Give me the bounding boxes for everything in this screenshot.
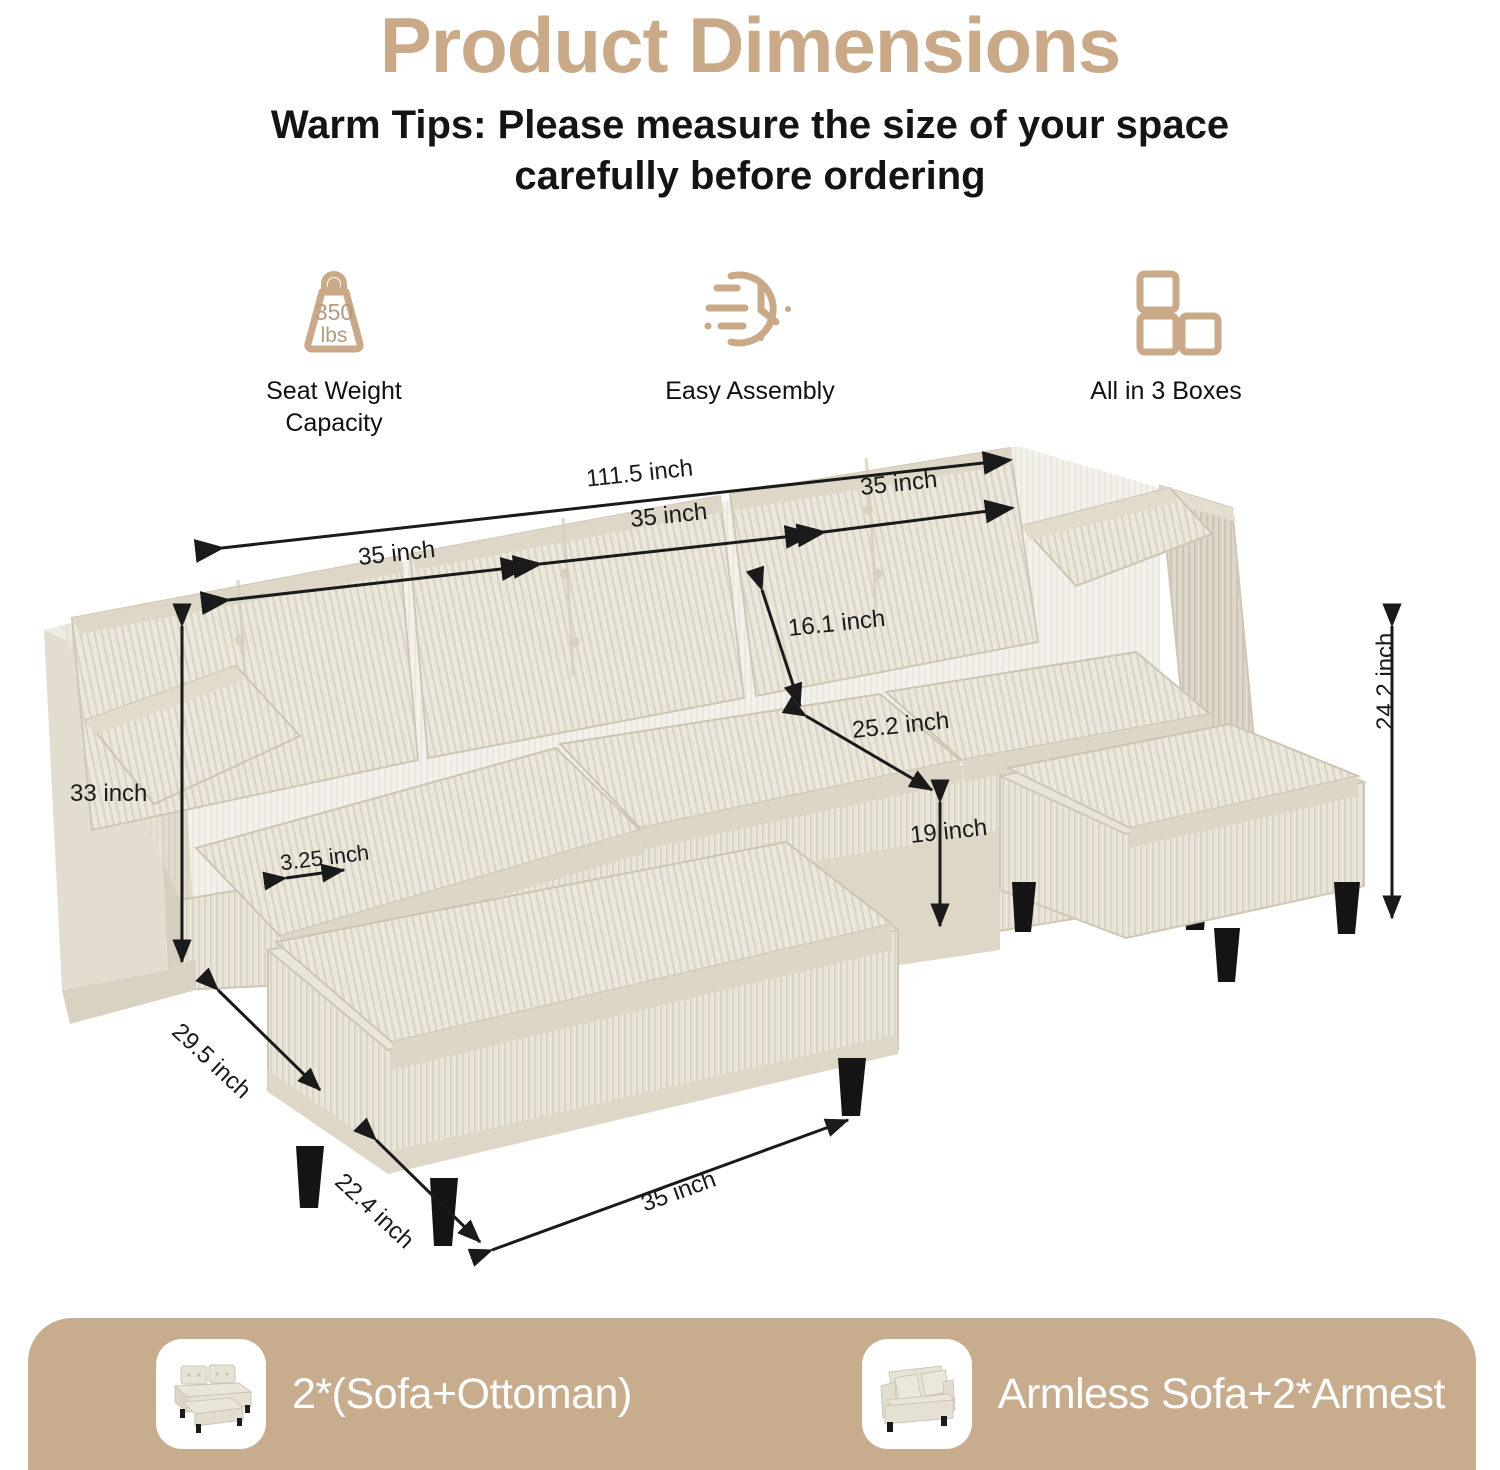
feature-label: All in 3 Boxes bbox=[1090, 376, 1241, 408]
sofa-illustration bbox=[44, 446, 1364, 1246]
feature-all-in-3-boxes: All in 3 Boxes bbox=[1051, 252, 1281, 439]
configuration-bar: 2*(Sofa+Ottoman) bbox=[28, 1318, 1476, 1470]
feature-badges: 350 lbs Seat Weight Capacity Easy Assemb… bbox=[0, 252, 1500, 439]
weight-icon: 350 lbs bbox=[278, 252, 390, 364]
config-label: Armless Sofa+2*Armest bbox=[998, 1370, 1445, 1419]
dim-total-height: 33 inch bbox=[70, 780, 147, 808]
weight-value: 350 bbox=[315, 299, 353, 325]
sofa-dimension-diagram: 111.5 inch 35 inch 35 inch 35 inch 16.1 … bbox=[0, 430, 1500, 1290]
feature-seat-weight-capacity: 350 lbs Seat Weight Capacity bbox=[219, 252, 449, 439]
three-boxes-icon bbox=[1110, 252, 1222, 364]
feature-label: Easy Assembly bbox=[665, 376, 835, 408]
config-item-armless-sofa[interactable]: Armless Sofa+2*Armest bbox=[862, 1339, 1445, 1449]
fast-clock-icon bbox=[691, 252, 809, 364]
sofa-ottoman-thumbnail bbox=[156, 1339, 266, 1449]
config-item-sofa-ottoman[interactable]: 2*(Sofa+Ottoman) bbox=[156, 1339, 632, 1449]
page-header: Product Dimensions Warm Tips: Please mea… bbox=[0, 0, 1500, 202]
page-title: Product Dimensions bbox=[0, 0, 1500, 84]
weight-unit: lbs bbox=[321, 324, 348, 347]
warm-tips-text: Warm Tips: Please measure the size of yo… bbox=[0, 100, 1500, 202]
armless-sofa-thumbnail bbox=[862, 1339, 972, 1449]
feature-easy-assembly: Easy Assembly bbox=[635, 252, 865, 439]
config-label: 2*(Sofa+Ottoman) bbox=[292, 1370, 632, 1419]
dim-ottoman-height: 24.2 inch bbox=[1372, 633, 1400, 730]
ottoman-right bbox=[1000, 724, 1364, 982]
